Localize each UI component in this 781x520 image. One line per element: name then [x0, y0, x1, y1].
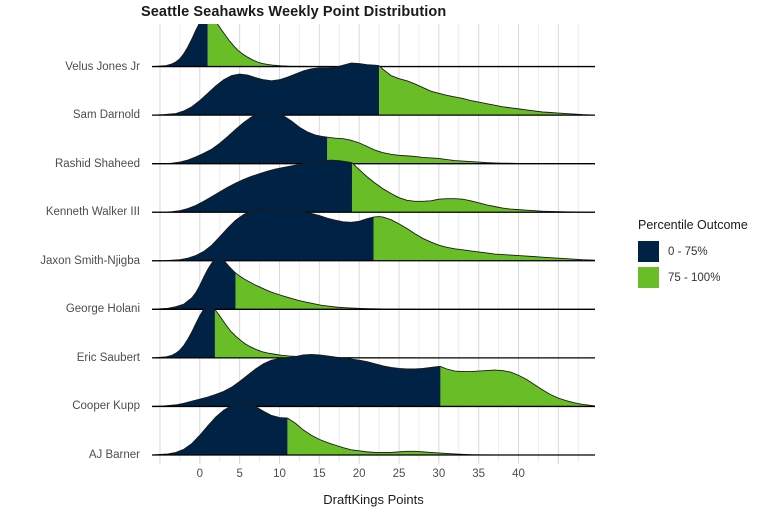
y-axis-label-4: Jaxon Smith-Njigba: [40, 255, 140, 267]
legend-title: Percentile Outcome: [638, 218, 778, 232]
ridgeline-svg: [152, 24, 595, 461]
page-title: Seattle Seahawks Weekly Point Distributi…: [141, 4, 446, 20]
y-axis-label-2: Rashid Shaheed: [55, 158, 140, 170]
legend: Percentile Outcome 0 - 75% 75 - 100%: [638, 218, 778, 293]
ridge-area-low: [152, 354, 440, 406]
ridge-area-low: [152, 306, 215, 358]
x-tick-label-30: 30: [432, 468, 445, 480]
y-axis-labels: Velus Jones JrSam DarnoldRashid ShaheedK…: [0, 24, 140, 461]
x-tick-label-0: 0: [197, 468, 203, 480]
x-tick-label-10: 10: [273, 468, 286, 480]
ridge-area-low: [152, 257, 236, 309]
ridge-area-low: [152, 63, 379, 115]
ridge-area-high: [208, 24, 595, 67]
legend-item-0[interactable]: 0 - 75%: [638, 241, 778, 262]
ridgeline-chart: Seattle Seahawks Weekly Point Distributi…: [0, 0, 781, 520]
legend-swatch-low: [638, 241, 659, 262]
x-tick-label-25: 25: [393, 468, 406, 480]
legend-label-high: 75 - 100%: [668, 272, 720, 284]
x-axis-title: DraftKings Points: [152, 492, 595, 507]
y-axis-label-3: Kenneth Walker III: [46, 206, 140, 218]
ridge-area-high: [374, 217, 596, 261]
x-tick-label-5: 5: [236, 468, 242, 480]
ridge-area-low: [152, 160, 352, 212]
ridge-area-high: [327, 137, 595, 164]
ridge-area-high: [287, 418, 595, 455]
ridge-area-high: [440, 366, 595, 406]
y-axis-label-8: AJ Barner: [89, 449, 140, 461]
ridge-area-high: [236, 273, 595, 309]
y-axis-label-6: Eric Saubert: [77, 352, 140, 364]
y-axis-label-7: Cooper Kupp: [72, 400, 140, 412]
ridge-area-low: [152, 209, 374, 261]
y-axis-label-1: Sam Darnold: [73, 109, 140, 121]
plot-area: [152, 24, 595, 461]
x-tick-label-40: 40: [512, 468, 525, 480]
y-axis-label-5: George Holani: [66, 303, 140, 315]
x-tick-label-15: 15: [313, 468, 326, 480]
legend-swatch-high: [638, 267, 659, 288]
x-tick-label-35: 35: [472, 468, 485, 480]
legend-label-low: 0 - 75%: [668, 246, 708, 258]
x-tick-label-20: 20: [353, 468, 366, 480]
legend-item-1[interactable]: 75 - 100%: [638, 267, 778, 288]
y-axis-label-0: Velus Jones Jr: [65, 61, 140, 73]
ridge-area-high: [379, 66, 595, 115]
x-axis-tickmarks: [152, 456, 595, 468]
